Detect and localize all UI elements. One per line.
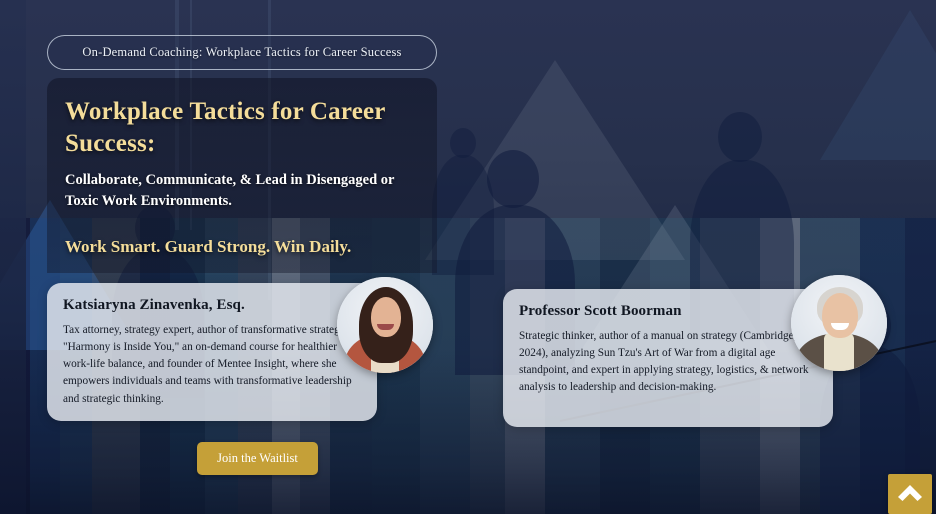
speaker-card-katsiaryna-zinavenka: Katsiaryna Zinavenka, Esq. Tax attorney,… [47,283,377,421]
page-bottom-edge [0,514,936,518]
chevron-up-icon [897,483,923,506]
hero-subtitle: Collaborate, Communicate, & Lead in Dise… [65,170,415,211]
hero-tagline: Work Smart. Guard Strong. Win Daily. [65,237,415,257]
avatar-katsiaryna-zinavenka [337,277,433,373]
speaker-name: Professor Scott Boorman [519,303,817,320]
avatar-face [822,293,858,338]
speaker-card-scott-boorman: Professor Scott Boorman Strategic thinke… [503,289,833,427]
avatar-scott-boorman [791,275,887,371]
speaker-name: Katsiaryna Zinavenka, Esq. [63,297,361,314]
silhouette-head-2 [450,128,476,158]
hero-panel: Workplace Tactics for Career Success: Co… [47,78,437,273]
page-title: Workplace Tactics for Career Success: [65,96,415,160]
silhouette-head-3 [718,112,762,162]
avatar-face [371,297,401,337]
silhouette-head-1 [487,150,539,208]
eyebrow-badge: On-Demand Coaching: Workplace Tactics fo… [47,35,437,70]
avatar-shirt [824,333,854,371]
join-waitlist-button[interactable]: Join the Waitlist [197,442,318,475]
decorative-triangle-4 [820,10,936,160]
speaker-bio: Strategic thinker, author of a manual on… [519,328,817,397]
silhouette-body-2 [432,155,494,275]
page-left-edge [0,0,26,518]
landing-page-hero: On-Demand Coaching: Workplace Tactics fo… [0,0,936,518]
scroll-to-top-button[interactable] [888,474,932,514]
eyebrow-badge-label: On-Demand Coaching: Workplace Tactics fo… [82,45,401,60]
speaker-bio: Tax attorney, strategy expert, author of… [63,322,361,408]
